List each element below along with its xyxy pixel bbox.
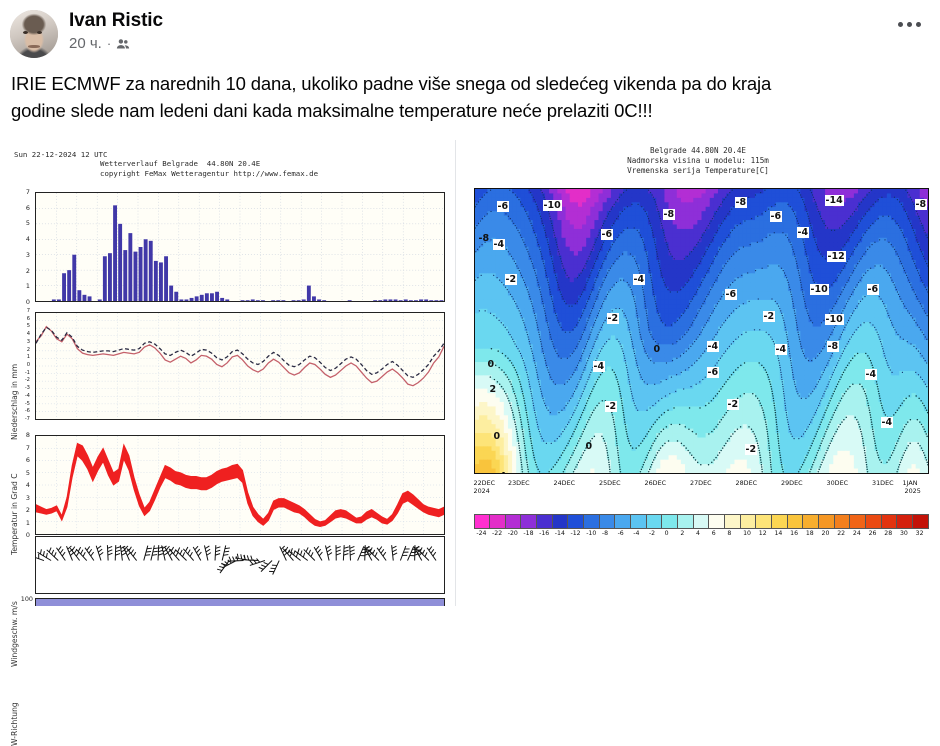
colorbar-tick: 4 [696, 530, 700, 537]
contour-label: -6 [770, 211, 783, 222]
x-axis-tick: 27DEC [690, 479, 712, 487]
colorbar-tick: 10 [743, 530, 751, 537]
colorbar [474, 514, 929, 529]
colorbar-tick: 24 [853, 530, 861, 537]
contour-label: -4 [797, 227, 810, 238]
post-text: IRIE ECMWF za narednih 10 dana, ukoliko … [11, 70, 919, 124]
x-axis-tick: 22DEC [474, 479, 496, 487]
contour-label: -2 [607, 313, 620, 324]
axis-tick: 0 [16, 362, 30, 368]
contour-label: -8 [735, 197, 748, 208]
colorbar-tick-labels: -24-22-20-18-16-14-12-10-8-6-4-202468101… [468, 530, 938, 542]
colorbar-swatch [835, 515, 851, 528]
axis-label-windspeed: Windgeschw. m/s [10, 601, 19, 667]
contour-label: -6 [867, 284, 880, 295]
contour-label: -8 [915, 199, 928, 210]
contour-label: -6 [497, 201, 510, 212]
axis-tick: 1 [16, 519, 30, 527]
pressure-subplot [35, 598, 445, 606]
axis-tick: 7 [16, 188, 30, 196]
avatar[interactable] [10, 10, 58, 58]
contour-label: -12 [827, 251, 846, 262]
colorbar-swatch [600, 515, 616, 528]
axis-tick: 7 [16, 444, 30, 452]
colorbar-tick: -18 [523, 530, 533, 537]
contour-label: 4 [499, 471, 508, 474]
colorbar-swatch [756, 515, 772, 528]
colorbar-tick: -22 [492, 530, 502, 537]
colorbar-swatch [709, 515, 725, 528]
contour-label: -14 [825, 195, 844, 206]
contour-label: 0 [585, 441, 594, 452]
axis-tick: 6 [16, 456, 30, 464]
colorbar-swatch [819, 515, 835, 528]
post-text-line-1: IRIE ECMWF za narednih 10 dana, ukoliko … [11, 70, 919, 97]
contour-label: -4 [775, 344, 788, 355]
colorbar-tick: -8 [602, 530, 608, 537]
contour-label: -2 [727, 399, 740, 410]
contour-label: -4 [881, 417, 894, 428]
colorbar-tick: 0 [665, 530, 669, 537]
contour-label: -4 [493, 239, 506, 250]
axis-tick: 4 [16, 235, 30, 243]
contour-label: -6 [707, 367, 720, 378]
contour-label: 0 [653, 344, 662, 355]
contour-label: -2 [505, 274, 518, 285]
avatar-detail [23, 31, 28, 34]
contour-label: -6 [601, 229, 614, 240]
ellipsis-dot [907, 22, 912, 27]
contour-label: -10 [543, 200, 562, 211]
contour-label: -4 [865, 369, 878, 380]
colorbar-tick: 28 [884, 530, 892, 537]
post-media[interactable]: Sun 22-12-2024 12 UTC Wetterverlauf Belg… [0, 140, 940, 606]
axis-tick: 7 [16, 308, 30, 314]
meteogram-header-line-2: Wetterverlauf Belgrade 44.80N 20.4E [100, 159, 260, 169]
contour-header: Belgrade 44.80N 20.4E Nadmorska visina u… [456, 146, 940, 176]
colorbar-tick: 26 [869, 530, 877, 537]
winddirection-subplot [35, 536, 445, 594]
colorbar-tick: -20 [508, 530, 518, 537]
contour-label: -10 [825, 314, 844, 325]
contour-label: -8 [663, 209, 676, 220]
contour-header-line-3: Vremenska serija Temperature[C] [456, 166, 940, 176]
colorbar-swatch [803, 515, 819, 528]
colorbar-swatch [475, 515, 491, 528]
axis-tick: -1 [16, 370, 30, 376]
contour-plot: -6-10-8-8-14-8-8-4-6-6-4-12-6-4-2-2-4-10… [474, 188, 929, 474]
colorbar-tick: -14 [555, 530, 565, 537]
x-axis-tick: 23DEC [508, 479, 530, 487]
contour-header-line-2: Nadmorska visina u modelu: 115m [456, 156, 940, 166]
x-axis-year: 2024 [474, 487, 490, 495]
colorbar-swatch [788, 515, 804, 528]
colorbar-tick: -24 [476, 530, 486, 537]
contour-label: -10 [810, 284, 829, 295]
x-axis-tick: 29DEC [781, 479, 803, 487]
axis-tick: -3 [16, 385, 30, 391]
avatar-photo [10, 10, 58, 58]
colorbar-tick: -4 [633, 530, 639, 537]
colorbar-tick: -12 [570, 530, 580, 537]
contour-label: -8 [827, 341, 840, 352]
contour-label: 0 [493, 431, 502, 442]
axis-tick: 0 [16, 298, 30, 306]
axis-tick: 3 [16, 339, 30, 345]
axis-tick: 6 [16, 316, 30, 322]
colorbar-tick: 20 [822, 530, 830, 537]
contour-x-axis: 22DEC202423DEC24DEC25DEC26DEC27DEC28DEC2… [474, 476, 929, 498]
contour-label: -4 [593, 361, 606, 372]
colorbar-swatch [694, 515, 710, 528]
colorbar-swatch [568, 515, 584, 528]
axis-tick: 6 [16, 204, 30, 212]
windspeed-subplot [35, 435, 445, 535]
colorbar-swatch [772, 515, 788, 528]
meteogram-header-line-3: copyright FeMax Wetteragentur http://www… [100, 169, 318, 179]
x-axis-tick: 31DEC [872, 479, 894, 487]
author-name[interactable]: Ivan Ristic [69, 9, 163, 32]
colorbar-swatch [490, 515, 506, 528]
x-axis-tick: 25DEC [599, 479, 621, 487]
contour-header-line-1: Belgrade 44.80N 20.4E [456, 146, 940, 156]
ellipsis-dot [898, 22, 903, 27]
colorbar-tick: -6 [618, 530, 624, 537]
friends-icon[interactable] [116, 37, 130, 51]
x-axis-tick: 24DEC [554, 479, 576, 487]
colorbar-tick: 2 [680, 530, 684, 537]
colorbar-tick: 32 [916, 530, 924, 537]
colorbar-tick: 6 [712, 530, 716, 537]
post-meta: 20 ч. · [69, 35, 163, 53]
avatar-detail [37, 31, 42, 34]
meteogram-header-line-1: Sun 22-12-2024 12 UTC [14, 150, 107, 160]
colorbar-tick: 14 [774, 530, 782, 537]
axis-label-winddirection: W-Richtung [10, 702, 19, 746]
colorbar-swatch [850, 515, 866, 528]
colorbar-swatch [741, 515, 757, 528]
post-text-line-2: godine slede nam ledeni dani kada maksim… [11, 97, 919, 124]
meteogram-image[interactable]: Sun 22-12-2024 12 UTC Wetterverlauf Belg… [0, 140, 455, 606]
colorbar-tick: 22 [837, 530, 845, 537]
x-axis-tick: 28DEC [736, 479, 758, 487]
pressure-tick-100: 100 [17, 595, 33, 603]
precipitation-subplot [35, 192, 445, 302]
meta-separator: · [107, 35, 111, 53]
contour-label: -2 [605, 401, 618, 412]
contour-label: 0 [487, 359, 496, 370]
contour-label: -2 [763, 311, 776, 322]
axis-tick: -5 [16, 401, 30, 407]
colorbar-tick: -16 [539, 530, 549, 537]
colorbar-tick: -10 [586, 530, 596, 537]
colorbar-swatch [647, 515, 663, 528]
colorbar-swatch [913, 515, 928, 528]
colorbar-swatch [537, 515, 553, 528]
temperature-subplot [35, 312, 445, 420]
axis-tick: 4 [16, 331, 30, 337]
colorbar-tick: -2 [649, 530, 655, 537]
x-axis-year: 2025 [905, 487, 921, 495]
axis-tick: -6 [16, 408, 30, 414]
contour-label: 2 [489, 384, 498, 395]
ellipsis-icon[interactable] [892, 14, 926, 34]
colorbar-swatch [897, 515, 913, 528]
colorbar-tick: 16 [790, 530, 798, 537]
axis-tick: -7 [16, 416, 30, 422]
contour-label: -6 [725, 289, 738, 300]
axis-tick: 5 [16, 323, 30, 329]
colorbar-swatch [631, 515, 647, 528]
colorbar-tick: 18 [806, 530, 814, 537]
colorbar-swatch [615, 515, 631, 528]
colorbar-tick: 12 [759, 530, 767, 537]
axis-tick: 4 [16, 481, 30, 489]
avatar-detail [28, 45, 40, 48]
axis-tick: 8 [16, 431, 30, 439]
contour-label: -4 [633, 274, 646, 285]
axis-tick: 1 [16, 282, 30, 290]
colorbar-tick: 30 [900, 530, 908, 537]
colorbar-swatch [678, 515, 694, 528]
axis-tick: 5 [16, 469, 30, 477]
axis-tick: -4 [16, 393, 30, 399]
colorbar-swatch [521, 515, 537, 528]
temperature-contour-image[interactable]: Belgrade 44.80N 20.4E Nadmorska visina u… [455, 140, 940, 606]
ellipsis-dot [916, 22, 921, 27]
x-axis-tick: 30DEC [827, 479, 849, 487]
colorbar-tick: 8 [727, 530, 731, 537]
contour-label: -2 [745, 444, 758, 455]
axis-tick: 2 [16, 506, 30, 514]
axis-tick: 3 [16, 251, 30, 259]
axis-tick: 2 [16, 267, 30, 275]
x-axis-tick: 1JAN [903, 479, 918, 487]
axis-tick: -2 [16, 377, 30, 383]
colorbar-swatch [662, 515, 678, 528]
colorbar-swatch [553, 515, 569, 528]
facebook-post: Ivan Ristic 20 ч. · IRIE ECM [0, 0, 940, 606]
colorbar-swatch [506, 515, 522, 528]
colorbar-swatch [725, 515, 741, 528]
contour-label: -8 [478, 233, 491, 244]
colorbar-swatch [584, 515, 600, 528]
axis-tick: 5 [16, 219, 30, 227]
contour-label: -4 [707, 341, 720, 352]
colorbar-swatch [866, 515, 882, 528]
axis-tick: 1 [16, 354, 30, 360]
colorbar-swatch [882, 515, 898, 528]
post-timestamp[interactable]: 20 ч. [69, 35, 102, 53]
post-author-block: Ivan Ristic 20 ч. · [69, 8, 163, 53]
axis-tick: 0 [16, 531, 30, 539]
axis-tick: 2 [16, 347, 30, 353]
post-header: Ivan Ristic 20 ч. · [0, 0, 940, 62]
x-axis-tick: 26DEC [645, 479, 667, 487]
axis-tick: 3 [16, 494, 30, 502]
